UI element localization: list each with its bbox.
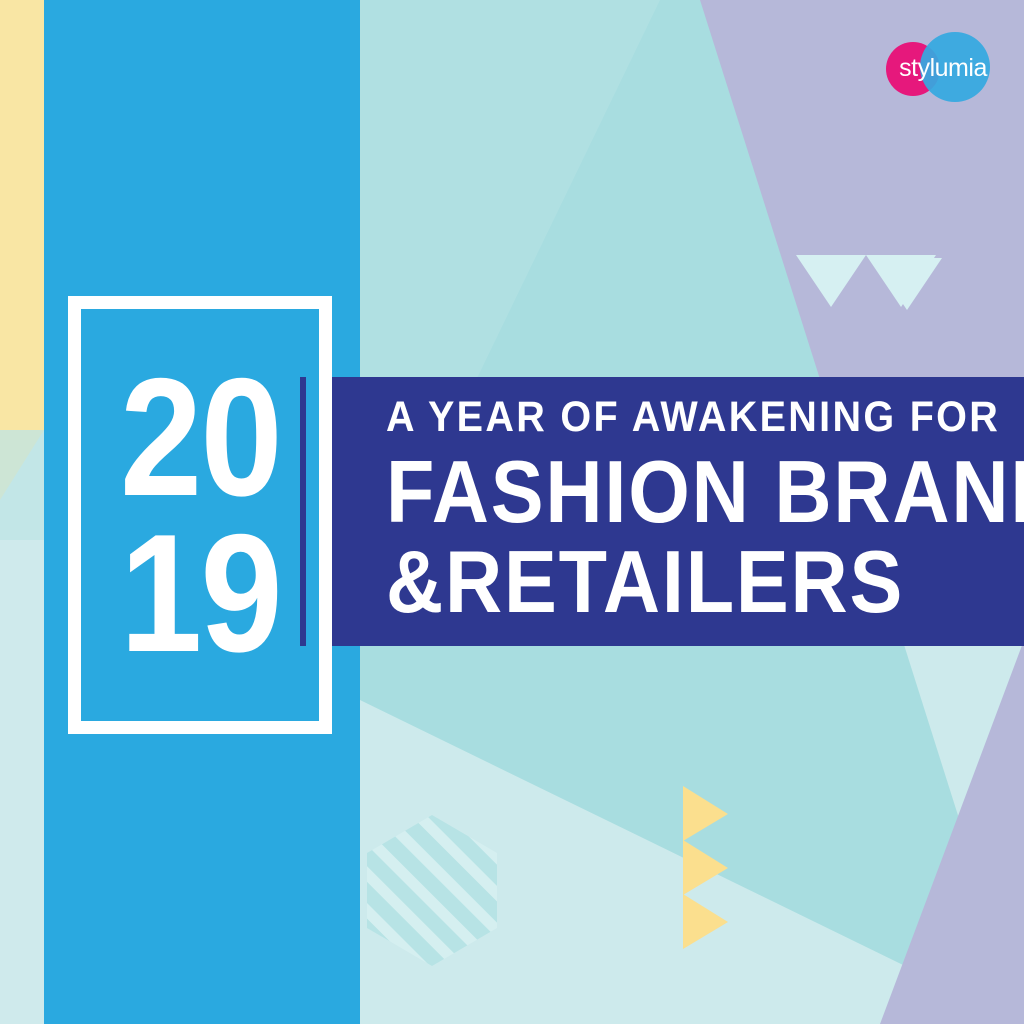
background-yellow-strip	[0, 0, 44, 500]
year-frame	[68, 296, 332, 734]
headline-text-block: A YEAR OF AWAKENING FOR FASHION BRANDS &…	[386, 377, 1006, 646]
poster-canvas: 20 19 A YEAR OF AWAKENING FOR FASHION BR…	[0, 0, 1024, 1024]
headline-eyebrow: A YEAR OF AWAKENING FOR	[386, 396, 956, 439]
background-strip-teal-blend	[0, 430, 44, 540]
stylumia-logo[interactable]: stylumia	[880, 26, 998, 106]
triangle-right-group	[683, 786, 728, 949]
logo-wordmark: stylumia	[888, 54, 998, 83]
year-frame-inner-border	[81, 309, 319, 721]
headline-line-1: FASHION BRANDS	[386, 447, 944, 537]
headline-line-2: &RETAILERS	[386, 537, 944, 627]
